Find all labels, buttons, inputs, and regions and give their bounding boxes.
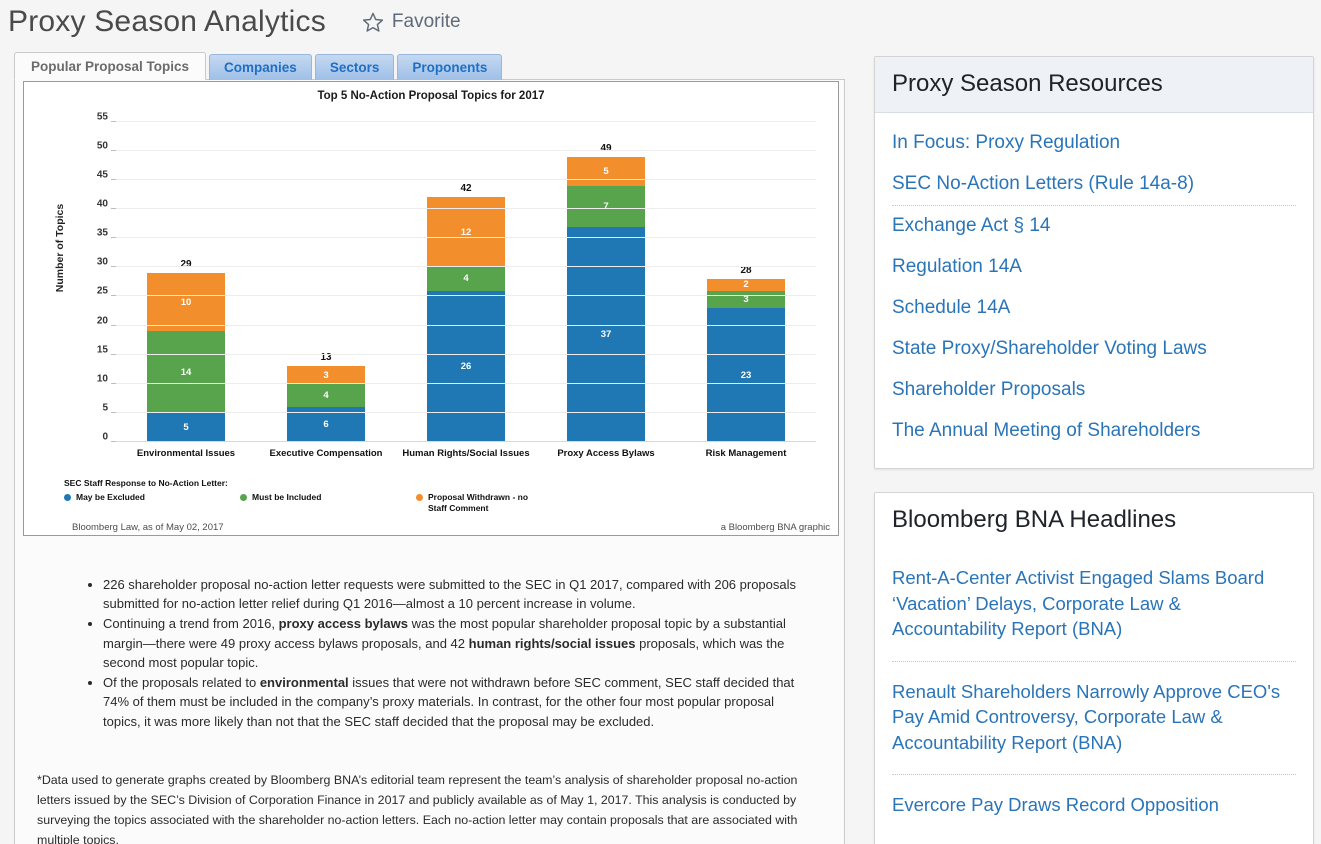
page-title: Proxy Season Analytics [8, 5, 326, 39]
headline-link[interactable]: Renault Shareholders Narrowly Approve CE… [892, 662, 1296, 776]
resource-link[interactable]: In Focus: Proxy Regulation [892, 123, 1296, 164]
chart-source-right: a Bloomberg BNA graphic [721, 522, 830, 533]
headline-link[interactable]: Evercore Pay Draws Record Opposition [892, 775, 1296, 837]
chart-y-tick: 45 [97, 169, 108, 180]
insight-emphasis: human rights/social issues [469, 636, 636, 651]
legend-label: Must be Included [252, 492, 321, 503]
legend-item: Proposal Withdrawn - no Staff Comment [416, 492, 592, 513]
page-header: Proxy Season Analytics Favorite [8, 0, 461, 44]
insight-item: Of the proposals related to environmenta… [103, 673, 803, 731]
chart-y-tick: 50 [97, 140, 108, 151]
resources-heading: Proxy Season Resources [875, 57, 1313, 113]
chart-x-tick: Risk Management [676, 448, 816, 459]
headline-link[interactable]: Rent-A-Center Activist Engaged Slams Boa… [892, 548, 1296, 662]
insight-text: 226 shareholder proposal no-action lette… [103, 577, 796, 611]
resource-link[interactable]: State Proxy/Shareholder Voting Laws [892, 329, 1296, 370]
legend-color-swatch [240, 494, 247, 501]
methodology-footnote: *Data used to generate graphs created by… [37, 770, 812, 844]
legend-label: Proposal Withdrawn - no Staff Comment [428, 492, 546, 513]
chart-source-left: Bloomberg Law, as of May 02, 2017 [72, 522, 224, 533]
tab-companies[interactable]: Companies [209, 54, 312, 80]
star-outline-icon [362, 11, 384, 33]
favorite-label: Favorite [392, 11, 461, 33]
legend-item: May be Excluded [64, 492, 240, 503]
chart-x-tick: Proxy Access Bylaws [536, 448, 676, 459]
insight-item: 226 shareholder proposal no-action lette… [103, 575, 803, 613]
insight-emphasis: proxy access bylaws [279, 616, 408, 631]
chart-y-tick: 55 [97, 111, 108, 122]
page-root: Proxy Season Analytics Favorite Popular … [0, 0, 1321, 844]
legend-label: May be Excluded [76, 492, 145, 503]
headlines-list: Rent-A-Center Activist Engaged Slams Boa… [875, 538, 1313, 844]
chart-y-tick: 30 [97, 257, 108, 268]
resource-link[interactable]: The Annual Meeting of Shareholders [892, 411, 1296, 452]
chart-x-tick: Environmental Issues [116, 448, 256, 459]
legend-color-swatch [64, 494, 71, 501]
insight-emphasis: environmental [260, 675, 349, 690]
favorite-button[interactable]: Favorite [362, 11, 461, 33]
legend-item: Must be Included [240, 492, 416, 503]
legend-items: May be ExcludedMust be IncludedProposal … [64, 492, 592, 513]
resource-link[interactable]: Shareholder Proposals [892, 370, 1296, 411]
headlines-heading: Bloomberg BNA Headlines [875, 493, 1313, 538]
chart-y-tick: 35 [97, 228, 108, 239]
resource-link[interactable]: SEC No-Action Letters (Rule 14a-8) [892, 164, 1296, 206]
main-content-panel: Top 5 No-Action Proposal Topics for 2017… [14, 79, 845, 844]
chart-image: Top 5 No-Action Proposal Topics for 2017… [23, 81, 839, 536]
resources-list: In Focus: Proxy RegulationSEC No-Action … [875, 113, 1313, 468]
tab-proponents[interactable]: Proponents [397, 54, 502, 80]
chart-legend: SEC Staff Response to No-Action Letter: … [64, 478, 592, 513]
chart-x-tick: Human Rights/Social Issues [396, 448, 536, 459]
insight-text: Continuing a trend from 2016, [103, 616, 279, 631]
tab-sectors[interactable]: Sectors [315, 54, 395, 80]
chart-x-tick: Executive Compensation [256, 448, 396, 459]
resource-link[interactable]: Exchange Act § 14 [892, 206, 1296, 247]
insight-text: Of the proposals related to [103, 675, 260, 690]
resource-link[interactable]: Regulation 14A [892, 247, 1296, 288]
chart-y-tick: 0 [102, 432, 108, 443]
legend-color-swatch [416, 494, 423, 501]
chart-y-tick: 20 [97, 315, 108, 326]
chart-y-axis-label: Number of Topics [54, 204, 66, 292]
chart-y-tick: 5 [102, 402, 108, 413]
chart-x-axis: Environmental IssuesExecutive Compensati… [116, 82, 816, 535]
chart-y-tick: 15 [97, 344, 108, 355]
right-sidebar: Proxy Season Resources In Focus: Proxy R… [874, 56, 1314, 844]
legend-title: SEC Staff Response to No-Action Letter: [64, 478, 592, 488]
resources-card: Proxy Season Resources In Focus: Proxy R… [874, 56, 1314, 469]
headlines-card: Bloomberg BNA Headlines Rent-A-Center Ac… [874, 492, 1314, 844]
chart-y-tick: 10 [97, 373, 108, 384]
insight-item: Continuing a trend from 2016, proxy acce… [103, 614, 803, 672]
chart-y-tick: 25 [97, 286, 108, 297]
resource-link[interactable]: Schedule 14A [892, 288, 1296, 329]
insights-ul: 226 shareholder proposal no-action lette… [81, 575, 803, 731]
tab-bar: Popular Proposal TopicsCompaniesSectorsP… [14, 54, 502, 80]
chart-y-tick: 40 [97, 199, 108, 210]
insights-list: 226 shareholder proposal no-action lette… [81, 575, 803, 732]
tab-popular-proposal-topics[interactable]: Popular Proposal Topics [14, 52, 206, 80]
